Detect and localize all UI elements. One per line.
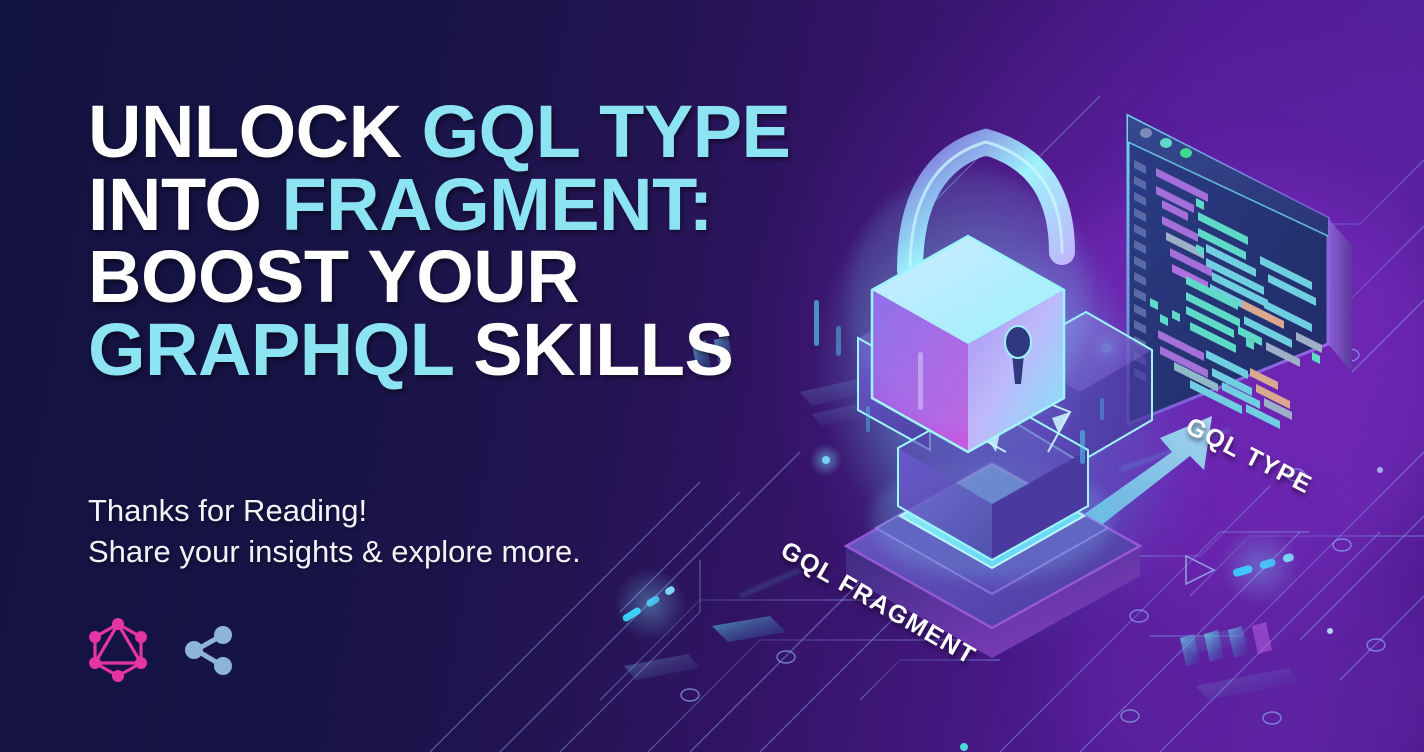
headline-line-1-cyan: GQL TYPE: [422, 90, 791, 173]
subtitle-line-1: Thanks for Reading!: [88, 490, 581, 531]
subtitle: Thanks for Reading! Share your insights …: [88, 490, 581, 572]
graphql-logo-icon[interactable]: [88, 618, 148, 682]
headline-line-4-white: SKILLS: [473, 308, 733, 391]
teal-dot: [1160, 138, 1172, 148]
green-dot: [1180, 148, 1192, 158]
headline-line-3: BOOST YOUR: [88, 241, 908, 314]
headline-line-1: UNLOCK GQL TYPE: [88, 96, 908, 169]
headline-line-1-white: UNLOCK: [88, 90, 422, 173]
promo-banner: GQL TYPE GQL FRAGMENT UNLOCK GQL TYPE IN…: [0, 0, 1424, 752]
headline-line-2-cyan: FRAGMENT:: [281, 163, 712, 246]
headline-line-3-white: BOOST YOUR: [88, 235, 579, 318]
gray-dot: [1140, 128, 1152, 138]
headline-line-2: INTO FRAGMENT:: [88, 169, 908, 242]
headline-line-4-cyan: GRAPHQL: [88, 308, 473, 391]
headline-line-2-white: INTO: [88, 163, 281, 246]
subtitle-line-2: Share your insights & explore more.: [88, 531, 581, 572]
code-window: [1128, 116, 1352, 429]
page-title: UNLOCK GQL TYPE INTO FRAGMENT: BOOST YOU…: [88, 96, 908, 386]
share-icon[interactable]: [180, 622, 236, 678]
social-icons: [88, 618, 236, 682]
headline-line-4: GRAPHQL SKILLS: [88, 314, 908, 387]
text-column: UNLOCK GQL TYPE INTO FRAGMENT: BOOST YOU…: [88, 96, 908, 386]
